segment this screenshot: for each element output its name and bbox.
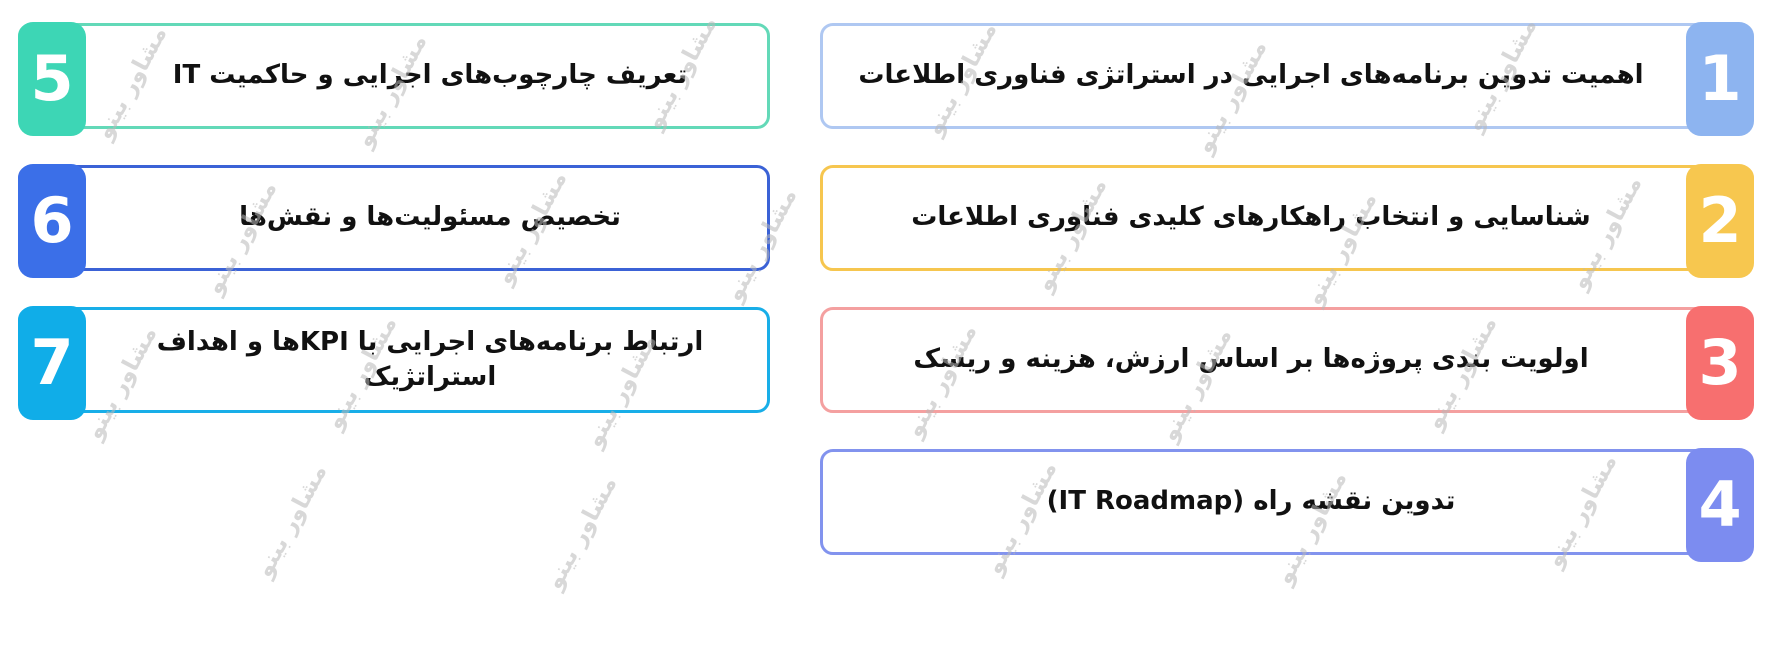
card-step-5[interactable]: 5تعریف چارچوب‌های اجرایی و حاکمیت IT (18, 23, 770, 129)
step-number-badge: 1 (1686, 22, 1754, 136)
step-number-badge: 4 (1686, 448, 1754, 562)
step-number-badge: 5 (18, 22, 86, 136)
card-step-6[interactable]: 6تخصیص مسئولیت‌ها و نقش‌ها (18, 165, 770, 271)
step-number-badge: 7 (18, 306, 86, 420)
step-number-badge: 6 (18, 164, 86, 278)
card-label: اهمیت تدوین برنامه‌های اجرایی در استراتژ… (823, 58, 1679, 93)
left-column: 5تعریف چارچوب‌های اجرایی و حاکمیت IT6تخص… (18, 0, 770, 449)
step-number-badge: 2 (1686, 164, 1754, 278)
card-label: تعریف چارچوب‌های اجرایی و حاکمیت IT (93, 58, 767, 93)
infographic-board: 5تعریف چارچوب‌های اجرایی و حاکمیت IT6تخص… (0, 0, 1772, 657)
card-label: تدوین نقشه راه (IT Roadmap) (823, 484, 1679, 519)
card-step-2[interactable]: 2شناسایی و انتخاب راهکارهای کلیدی فناوری… (820, 165, 1754, 271)
card-step-3[interactable]: 3اولویت بندی پروژه‌ها بر اساس ارزش، هزین… (820, 307, 1754, 413)
step-number-badge: 3 (1686, 306, 1754, 420)
card-label: تخصیص مسئولیت‌ها و نقش‌ها (93, 200, 767, 235)
card-step-1[interactable]: 1اهمیت تدوین برنامه‌های اجرایی در استرات… (820, 23, 1754, 129)
right-column: 1اهمیت تدوین برنامه‌های اجرایی در استرات… (820, 0, 1754, 591)
card-step-4[interactable]: 4تدوین نقشه راه (IT Roadmap) (820, 449, 1754, 555)
card-step-7[interactable]: 7ارتباط برنامه‌های اجرایی با KPIها و اهد… (18, 307, 770, 413)
card-label: شناسایی و انتخاب راهکارهای کلیدی فناوری … (823, 200, 1679, 235)
card-label: اولویت بندی پروژه‌ها بر اساس ارزش، هزینه… (823, 342, 1679, 377)
card-label: ارتباط برنامه‌های اجرایی با KPIها و اهدا… (93, 325, 767, 395)
